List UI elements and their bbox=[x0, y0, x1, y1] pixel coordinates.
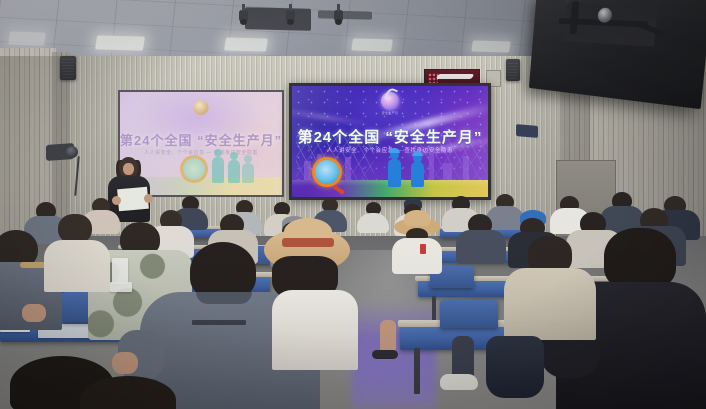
wall-mounted-device-right bbox=[516, 124, 538, 138]
attendee-sandal bbox=[372, 350, 398, 359]
sign-swoosh-icon bbox=[436, 74, 475, 79]
projection-worker-figure bbox=[242, 163, 254, 183]
straw-hat-crown bbox=[404, 210, 430, 226]
gray-tshirt-collar bbox=[196, 292, 252, 304]
left-attendee-2-body bbox=[44, 240, 110, 292]
seat bbox=[440, 300, 498, 328]
projection-worker-figure bbox=[228, 160, 240, 183]
attendee-shoe bbox=[440, 374, 478, 390]
lecture-hall-photo: 第24个全国 “安全生产月” 人人讲安全、个个会应急 — 查找身边安全隐患 安全… bbox=[0, 0, 706, 409]
camo-attendee-badge bbox=[112, 258, 128, 284]
projection-subtitle: 人人讲安全、个个会应急 — 查找身边安全隐患 bbox=[120, 149, 282, 156]
gray-tshirt-print bbox=[192, 320, 246, 325]
straw-hat-attendee-body bbox=[392, 238, 442, 274]
black-tshirt-attendee-head bbox=[604, 228, 676, 290]
presenter-face bbox=[123, 163, 134, 175]
main-led-screen-frame: 安全生产月 第24个全国 “安全生产月” 人人讲安全、个个会应急 — 查找身边安… bbox=[289, 83, 491, 200]
jacket-on-chair bbox=[486, 336, 544, 398]
sun-hat-band bbox=[282, 238, 334, 247]
left-edge-attendee-hand bbox=[22, 304, 46, 322]
projection-worker-figure bbox=[212, 157, 224, 183]
screen-glare bbox=[292, 86, 488, 197]
projector-lens-icon bbox=[66, 146, 78, 158]
gray-tshirt-hand bbox=[112, 352, 138, 374]
wall-speaker-right bbox=[506, 59, 520, 81]
audience-body bbox=[357, 213, 389, 233]
sun-hat-attendee-body bbox=[272, 290, 358, 370]
khaki-attendee-body bbox=[504, 268, 596, 340]
projection-title: 第24个全国 “安全生产月” bbox=[120, 130, 282, 149]
main-led-screen: 安全生产月 第24个全国 “安全生产月” 人人讲安全、个个会应急 — 查找身边安… bbox=[292, 86, 488, 197]
projection-emblem-icon bbox=[194, 100, 209, 115]
wall-speaker-left bbox=[60, 56, 76, 80]
audience-body bbox=[456, 230, 506, 264]
presenter-hand bbox=[112, 196, 121, 205]
presenter-hand bbox=[144, 194, 153, 203]
left-edge-necklace bbox=[20, 262, 46, 268]
projection-magnifier-icon bbox=[180, 155, 208, 183]
camo-attendee-badge bbox=[110, 282, 132, 292]
desk-leg bbox=[414, 348, 420, 394]
attendee-leg bbox=[380, 320, 396, 354]
straw-hat-badge bbox=[420, 244, 426, 254]
